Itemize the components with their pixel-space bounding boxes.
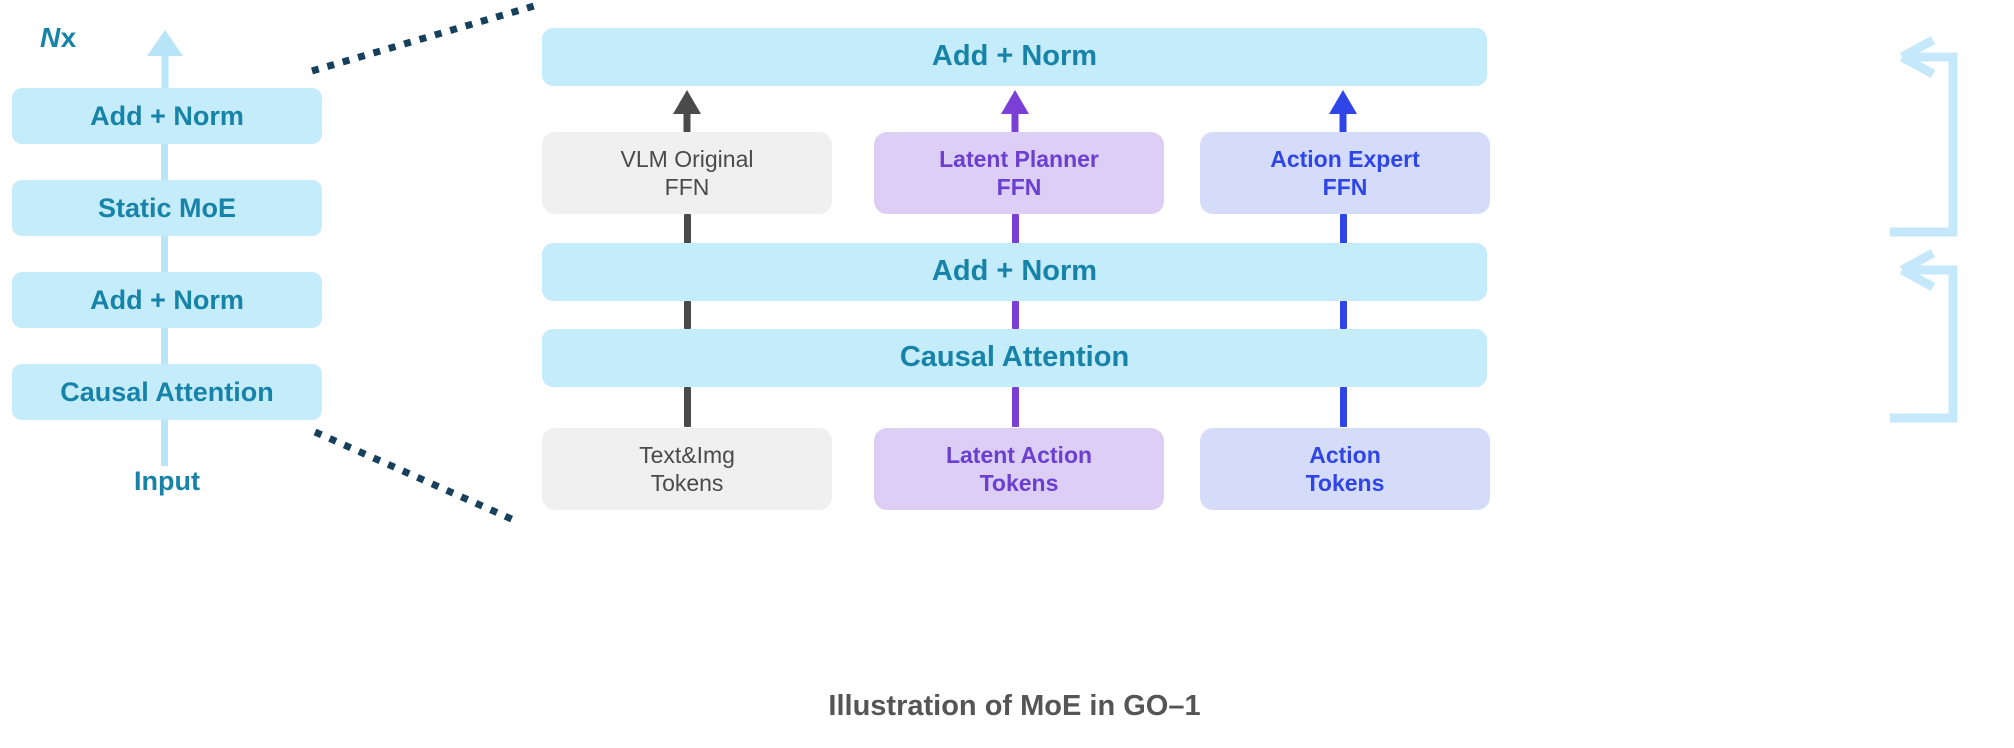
repeat-count-suffix: x [61, 22, 77, 53]
left-block-add-norm-top[interactable]: Add + Norm [12, 88, 322, 144]
diagram-canvas: Nx Add + Norm Static MoE Add + Norm Caus… [0, 0, 2014, 748]
token-box-latent-action-line2: Tokens [980, 469, 1059, 497]
ffn-box-action-expert-line1: Action Expert [1270, 145, 1420, 173]
token-box-text-img-line2: Tokens [651, 469, 724, 497]
ffn-box-vlm-original[interactable]: VLM Original FFN [542, 132, 832, 214]
ffn-box-action-expert[interactable]: Action Expert FFN [1200, 132, 1490, 214]
token-box-latent-action[interactable]: Latent Action Tokens [874, 428, 1164, 510]
stem-action-addnorm-to-attn [1340, 301, 1347, 329]
left-block-causal-attention[interactable]: Causal Attention [12, 364, 322, 420]
dotted-guide-top [312, 6, 534, 71]
repeat-count-label: Nx [40, 22, 77, 54]
right-bar-add-norm-mid[interactable]: Add + Norm [542, 243, 1487, 301]
stem-action-attn-to-tokens [1340, 387, 1347, 427]
residual-connection-lower [1890, 253, 1953, 418]
left-output-arrow [147, 30, 183, 88]
figure-caption: Illustration of MoE in GO–1 [542, 690, 1487, 723]
stem-vlm-addnorm-to-attn [684, 301, 691, 329]
left-stem-3 [161, 328, 168, 368]
left-stem-bottom [161, 420, 168, 466]
ffn-box-latent-planner[interactable]: Latent Planner FFN [874, 132, 1164, 214]
token-box-text-img[interactable]: Text&Img Tokens [542, 428, 832, 510]
right-bar-add-norm-top[interactable]: Add + Norm [542, 28, 1487, 86]
stem-latent-attn-to-tokens [1012, 387, 1019, 427]
ffn-to-addnorm-arrow-latent [1001, 90, 1029, 136]
ffn-box-action-expert-line2: FFN [1323, 173, 1368, 201]
right-bar-causal-attention[interactable]: Causal Attention [542, 329, 1487, 387]
left-block-add-norm-bottom[interactable]: Add + Norm [12, 272, 322, 328]
left-block-static-moe[interactable]: Static MoE [12, 180, 322, 236]
stem-vlm-attn-to-tokens [684, 387, 691, 427]
token-box-action-line1: Action [1309, 441, 1381, 469]
token-box-action-line2: Tokens [1306, 469, 1385, 497]
ffn-box-latent-planner-line2: FFN [997, 173, 1042, 201]
left-stem-2 [161, 236, 168, 276]
input-label: Input [12, 466, 322, 497]
residual-connection-upper [1890, 40, 1953, 232]
repeat-count-value: N [40, 22, 61, 53]
token-box-text-img-line1: Text&Img [639, 441, 735, 469]
stem-latent-addnorm-to-attn [1012, 301, 1019, 329]
token-box-action[interactable]: Action Tokens [1200, 428, 1490, 510]
dotted-guide-bottom [315, 432, 516, 521]
ffn-box-vlm-original-line1: VLM Original [621, 145, 754, 173]
token-box-latent-action-line1: Latent Action [946, 441, 1092, 469]
ffn-to-addnorm-arrow-action [1329, 90, 1357, 136]
left-stem-1 [161, 144, 168, 184]
ffn-to-addnorm-arrow-vlm [673, 90, 701, 136]
ffn-box-latent-planner-line1: Latent Planner [939, 145, 1099, 173]
ffn-box-vlm-original-line2: FFN [665, 173, 710, 201]
